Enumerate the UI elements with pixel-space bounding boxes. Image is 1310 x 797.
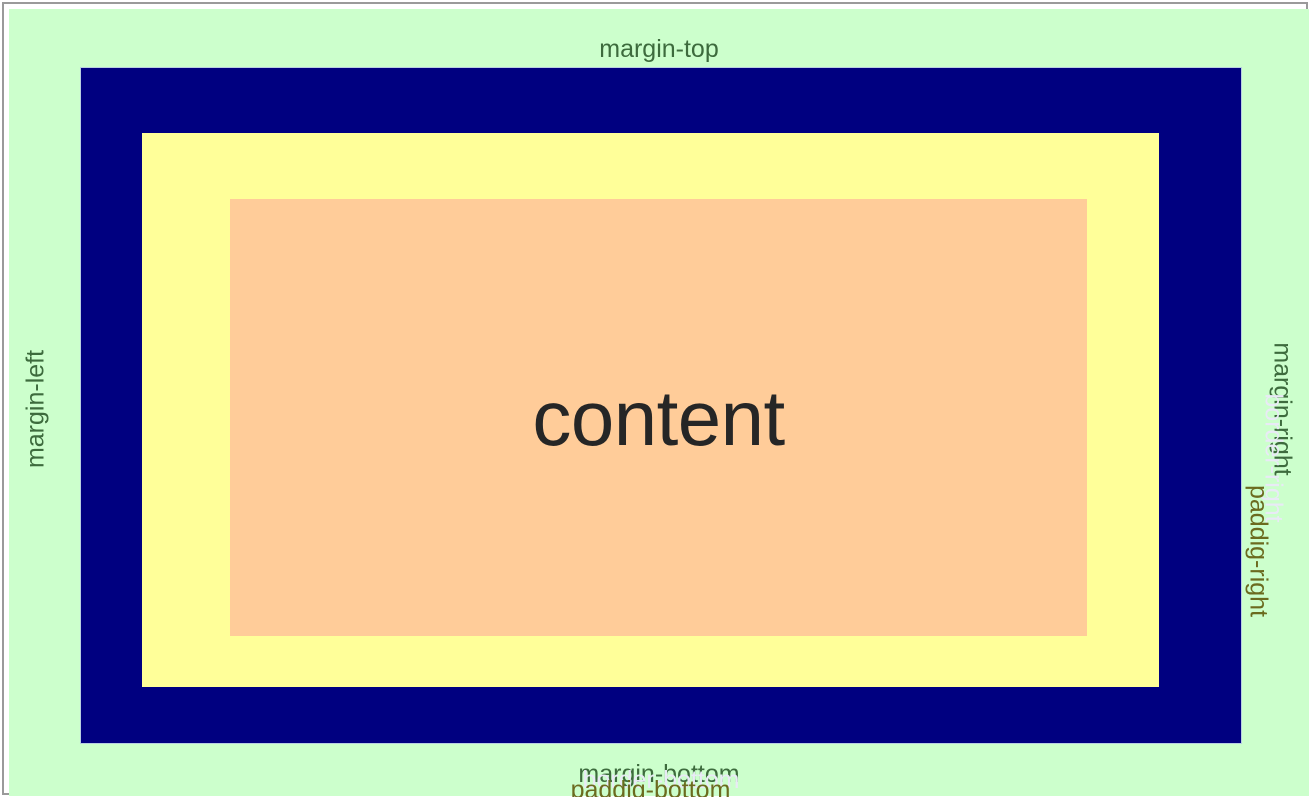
content-layer: content — [230, 199, 1087, 636]
box-model-diagram: margin-top margin-left margin-right marg… — [0, 0, 1310, 797]
figure-frame: margin-top margin-left margin-right marg… — [2, 2, 1308, 795]
margin-left-label: margin-left — [24, 350, 49, 468]
margin-top-label: margin-top — [9, 37, 1309, 62]
padding-bottom-label: paddig-bottom — [142, 778, 1159, 797]
content-label: content — [532, 379, 784, 457]
padding-right-label: paddig-right — [1246, 485, 1271, 617]
